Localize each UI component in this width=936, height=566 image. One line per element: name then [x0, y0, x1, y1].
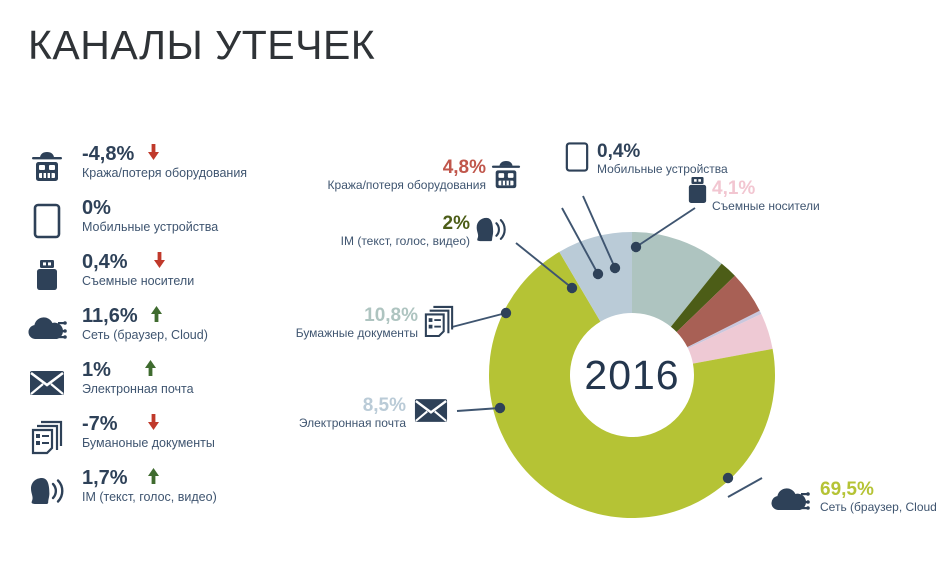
legend-label: Мобильные устройства [82, 220, 218, 235]
callout-mobile[interactable]: 0,4% Мобильные устройства [597, 141, 728, 176]
page-title: КАНАЛЫ УТЕЧЕК [28, 22, 375, 69]
callout-value: 2% [310, 213, 470, 234]
envelope-icon [414, 398, 448, 432]
cloud-icon [26, 309, 68, 349]
callout-value: 8,5% [288, 395, 406, 416]
callout-label: Бумажные документы [278, 326, 418, 340]
legend-label: Сеть (браузер, Cloud) [82, 328, 208, 343]
legend-label: Съемные носители [82, 274, 194, 289]
list-item[interactable]: -7% Буманоные документы [26, 413, 288, 467]
callout-theft[interactable]: 4,8% Кража/потеря оборудования [306, 157, 486, 192]
legend-value: 0% [82, 197, 111, 219]
usb-icon [26, 255, 68, 295]
legend-value: -4,8% [82, 143, 134, 165]
legend-value: 1,7% [82, 467, 128, 489]
callout-network[interactable]: 69,5% Сеть (браузер, Cloud) [820, 479, 936, 514]
callout-value: 4,8% [306, 157, 486, 178]
callout-removable[interactable]: 4,1% Съемные носители [712, 178, 820, 213]
legend-value: 1% [82, 359, 111, 381]
callout-im[interactable]: 2% IM (текст, голос, видео) [310, 213, 470, 248]
list-item[interactable]: 1,7% IM (текст, голос, видео) [26, 467, 288, 521]
speech-icon [26, 471, 68, 511]
legend-label: Буманоные документы [82, 436, 215, 451]
callout-value: 0,4% [597, 141, 728, 162]
callout-label: Электронная почта [288, 416, 406, 430]
callout-label: Съемные носители [712, 199, 820, 213]
list-item[interactable]: 11,6% Сеть (браузер, Cloud) [26, 305, 288, 359]
trend-down-icon [154, 252, 165, 268]
documents-icon [424, 305, 458, 339]
thief-icon [490, 160, 524, 194]
legend-label: IM (текст, голос, видео) [82, 490, 217, 505]
callout-label: IM (текст, голос, видео) [310, 234, 470, 248]
list-item[interactable]: 0,4% Съемные носители [26, 251, 288, 305]
legend-value: 11,6% [82, 305, 138, 327]
envelope-icon [26, 363, 68, 403]
cloud-icon [770, 487, 812, 521]
callout-label: Кража/потеря оборудования [306, 178, 486, 192]
legend-value: 0,4% [82, 251, 128, 273]
thief-icon [26, 147, 68, 187]
infographic-canvas: КАНАЛЫ УТЕЧЕК -4,8% Кража/потеря о [0, 0, 936, 566]
trend-down-icon [148, 414, 159, 430]
tablet-icon [566, 142, 600, 176]
trend-up-icon [151, 306, 162, 322]
callout-email[interactable]: 8,5% Электронная почта [288, 395, 406, 430]
trend-down-icon [148, 144, 159, 160]
documents-icon [26, 417, 68, 457]
legend-label: Электронная почта [82, 382, 194, 397]
callout-value: 69,5% [820, 479, 936, 500]
callout-label: Мобильные устройства [597, 162, 728, 176]
callout-value: 10,8% [278, 305, 418, 326]
donut-chart [489, 232, 775, 518]
list-item[interactable]: 1% Электронная почта [26, 359, 288, 413]
legend-value: -7% [82, 413, 118, 435]
speech-icon [474, 216, 508, 250]
legend-list: -4,8% Кража/потеря оборудования 0% Мобил… [26, 143, 288, 521]
list-item[interactable]: -4,8% Кража/потеря оборудования [26, 143, 288, 197]
legend-label: Кража/потеря оборудования [82, 166, 247, 181]
trend-up-icon [148, 468, 159, 484]
list-item[interactable]: 0% Мобильные устройства [26, 197, 288, 251]
callout-label: Сеть (браузер, Cloud) [820, 500, 936, 514]
callout-value: 4,1% [712, 178, 820, 199]
trend-up-icon [145, 360, 156, 376]
callout-paper[interactable]: 10,8% Бумажные документы [278, 305, 418, 340]
tablet-icon [26, 201, 68, 241]
